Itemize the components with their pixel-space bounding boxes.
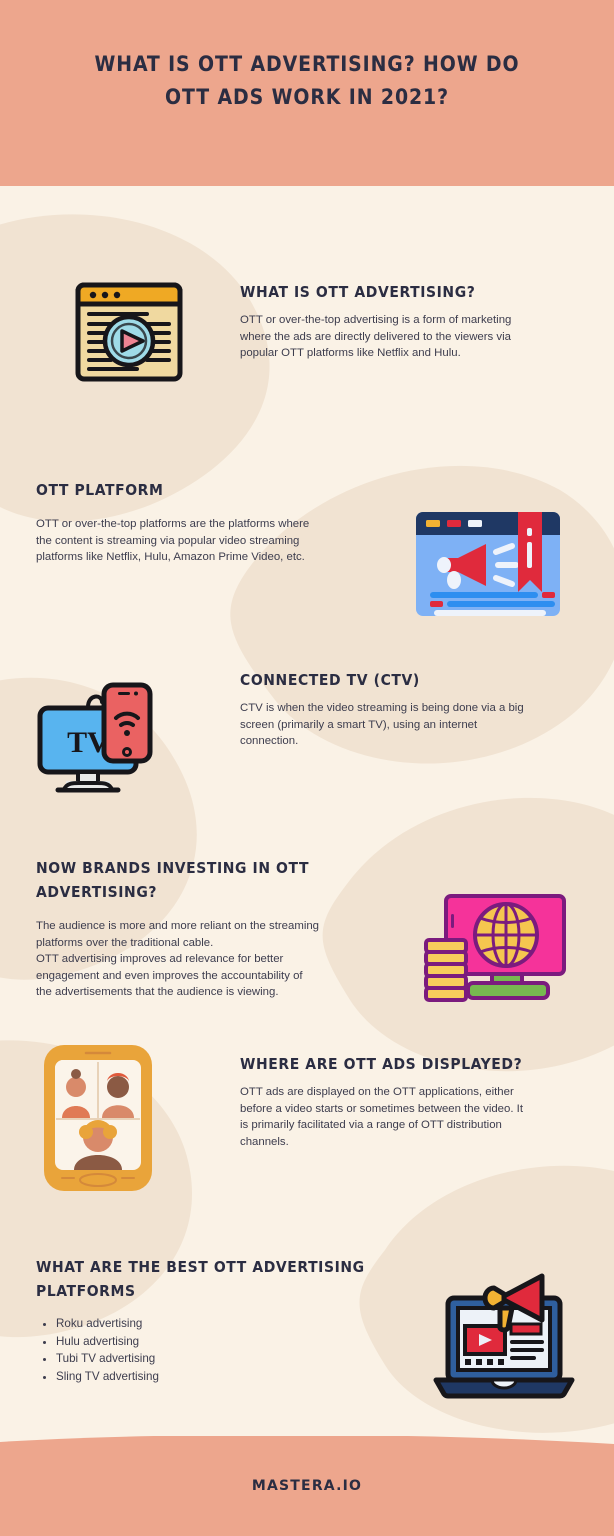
best-platforms-list: Roku advertising Hulu advertising Tubi T… bbox=[36, 1315, 386, 1385]
section-4-body-line-5: the advertisements that the audience is … bbox=[36, 984, 376, 1001]
list-item: Sling TV advertising bbox=[56, 1368, 386, 1386]
section-6-heading: WHAT ARE THE BEST OTT ADVERTISING PLATFO… bbox=[36, 1255, 386, 1303]
monitor-globe-coins-icon bbox=[420, 892, 568, 1002]
section-3-body: CTV is when the video streaming is being… bbox=[240, 700, 585, 750]
section-brands-investing: NOW BRANDS INVESTING IN OTT ADVERTISING?… bbox=[0, 856, 614, 1016]
section-2-body-line-1: OTT or over-the-top platforms are the pl… bbox=[36, 516, 376, 533]
section-2-text: OTT PLATFORM OTT or over-the-top platfor… bbox=[36, 478, 376, 566]
page-title-line-1: WHAT IS OTT ADVERTISING? HOW DO bbox=[0, 48, 614, 81]
section-3-body-line-1: CTV is when the video streaming is being… bbox=[240, 700, 585, 717]
section-1-text: WHAT IS OTT ADVERTISING? OTT or over-the… bbox=[240, 280, 580, 362]
section-1-body-line-2: where the ads are directly delivered to … bbox=[240, 329, 580, 346]
section-2-body-line-2: the content is streaming via popular vid… bbox=[36, 533, 376, 550]
section-connected-tv: TV CONNECTED TV (CTV) CTV is when t bbox=[0, 660, 614, 810]
browser-megaphone-bookmark-icon bbox=[414, 510, 562, 618]
list-item: Hulu advertising bbox=[56, 1333, 386, 1351]
section-6-heading-line-2: PLATFORMS bbox=[36, 1282, 136, 1300]
section-5-body-line-2: before a video starts or sometimes betwe… bbox=[240, 1101, 585, 1118]
section-4-body-line-3: OTT advertising improves ad relevance fo… bbox=[36, 951, 376, 968]
section-4-body-line-1: The audience is more and more reliant on… bbox=[36, 918, 376, 935]
section-2-body-line-3: platforms like Netflix, Hulu, Amazon Pri… bbox=[36, 549, 376, 566]
page-footer: MASTERA.IO bbox=[0, 1456, 614, 1536]
phone-video-call-icon bbox=[38, 1040, 158, 1195]
section-5-body-line-1: OTT ads are displayed on the OTT applica… bbox=[240, 1084, 585, 1101]
smart-tv-phone-wifi-icon: TV bbox=[36, 672, 172, 800]
section-6-text: WHAT ARE THE BEST OTT ADVERTISING PLATFO… bbox=[36, 1255, 386, 1385]
section-2-body: OTT or over-the-top platforms are the pl… bbox=[36, 516, 376, 566]
section-4-heading: NOW BRANDS INVESTING IN OTT ADVERTISING? bbox=[36, 856, 376, 904]
footer-brand: MASTERA.IO bbox=[0, 1478, 614, 1494]
page-header: WHAT IS OTT ADVERTISING? HOW DO OTT ADS … bbox=[0, 0, 614, 186]
section-4-heading-line-2: ADVERTISING? bbox=[36, 883, 157, 901]
section-best-platforms: WHAT ARE THE BEST OTT ADVERTISING PLATFO… bbox=[0, 1255, 614, 1415]
section-1-body-line-1: OTT or over-the-top advertising is a for… bbox=[240, 312, 580, 329]
section-4-body-line-2: platforms over the traditional cable. bbox=[36, 935, 376, 952]
list-item: Tubi TV advertising bbox=[56, 1350, 386, 1368]
section-1-body-line-3: popular OTT platforms like Netflix and H… bbox=[240, 345, 580, 362]
section-5-body: OTT ads are displayed on the OTT applica… bbox=[240, 1084, 585, 1150]
section-5-heading: WHERE ARE OTT ADS DISPLAYED? bbox=[240, 1052, 585, 1076]
section-5-body-line-4: channels. bbox=[240, 1134, 585, 1151]
section-2-heading: OTT PLATFORM bbox=[36, 478, 376, 502]
infographic-page: WHAT IS OTT ADVERTISING? HOW DO OTT ADS … bbox=[0, 0, 614, 1536]
footer-curve bbox=[0, 1436, 614, 1456]
section-3-text: CONNECTED TV (CTV) CTV is when the video… bbox=[240, 668, 585, 750]
section-4-text: NOW BRANDS INVESTING IN OTT ADVERTISING?… bbox=[36, 856, 376, 1001]
browser-video-player-icon bbox=[75, 282, 183, 382]
section-3-heading: CONNECTED TV (CTV) bbox=[240, 668, 585, 692]
section-4-heading-line-1: NOW BRANDS INVESTING IN OTT bbox=[36, 859, 309, 877]
section-3-body-line-3: connection. bbox=[240, 733, 585, 750]
list-item: Roku advertising bbox=[56, 1315, 386, 1333]
section-3-body-line-2: screen (primarily a smart TV), using an … bbox=[240, 717, 585, 734]
section-where-ads-displayed: WHERE ARE OTT ADS DISPLAYED? OTT ads are… bbox=[0, 1030, 614, 1200]
page-title-line-2: OTT ADS WORK IN 2021? bbox=[0, 81, 614, 114]
section-5-text: WHERE ARE OTT ADS DISPLAYED? OTT ads are… bbox=[240, 1052, 585, 1150]
section-6-heading-line-1: WHAT ARE THE BEST OTT ADVERTISING bbox=[36, 1258, 365, 1276]
section-ott-platform: OTT PLATFORM OTT or over-the-top platfor… bbox=[0, 470, 614, 630]
laptop-video-megaphone-icon bbox=[432, 1270, 576, 1400]
page-title: WHAT IS OTT ADVERTISING? HOW DO OTT ADS … bbox=[0, 48, 614, 114]
section-4-body: The audience is more and more reliant on… bbox=[36, 918, 376, 1001]
section-what-is-ott-advertising: WHAT IS OTT ADVERTISING? OTT or over-the… bbox=[0, 270, 614, 400]
section-1-body: OTT or over-the-top advertising is a for… bbox=[240, 312, 580, 362]
section-5-body-line-3: is primarily facilitated via a range of … bbox=[240, 1117, 585, 1134]
section-1-heading: WHAT IS OTT ADVERTISING? bbox=[240, 280, 580, 304]
section-4-body-line-4: engagement and even improves the account… bbox=[36, 968, 376, 985]
